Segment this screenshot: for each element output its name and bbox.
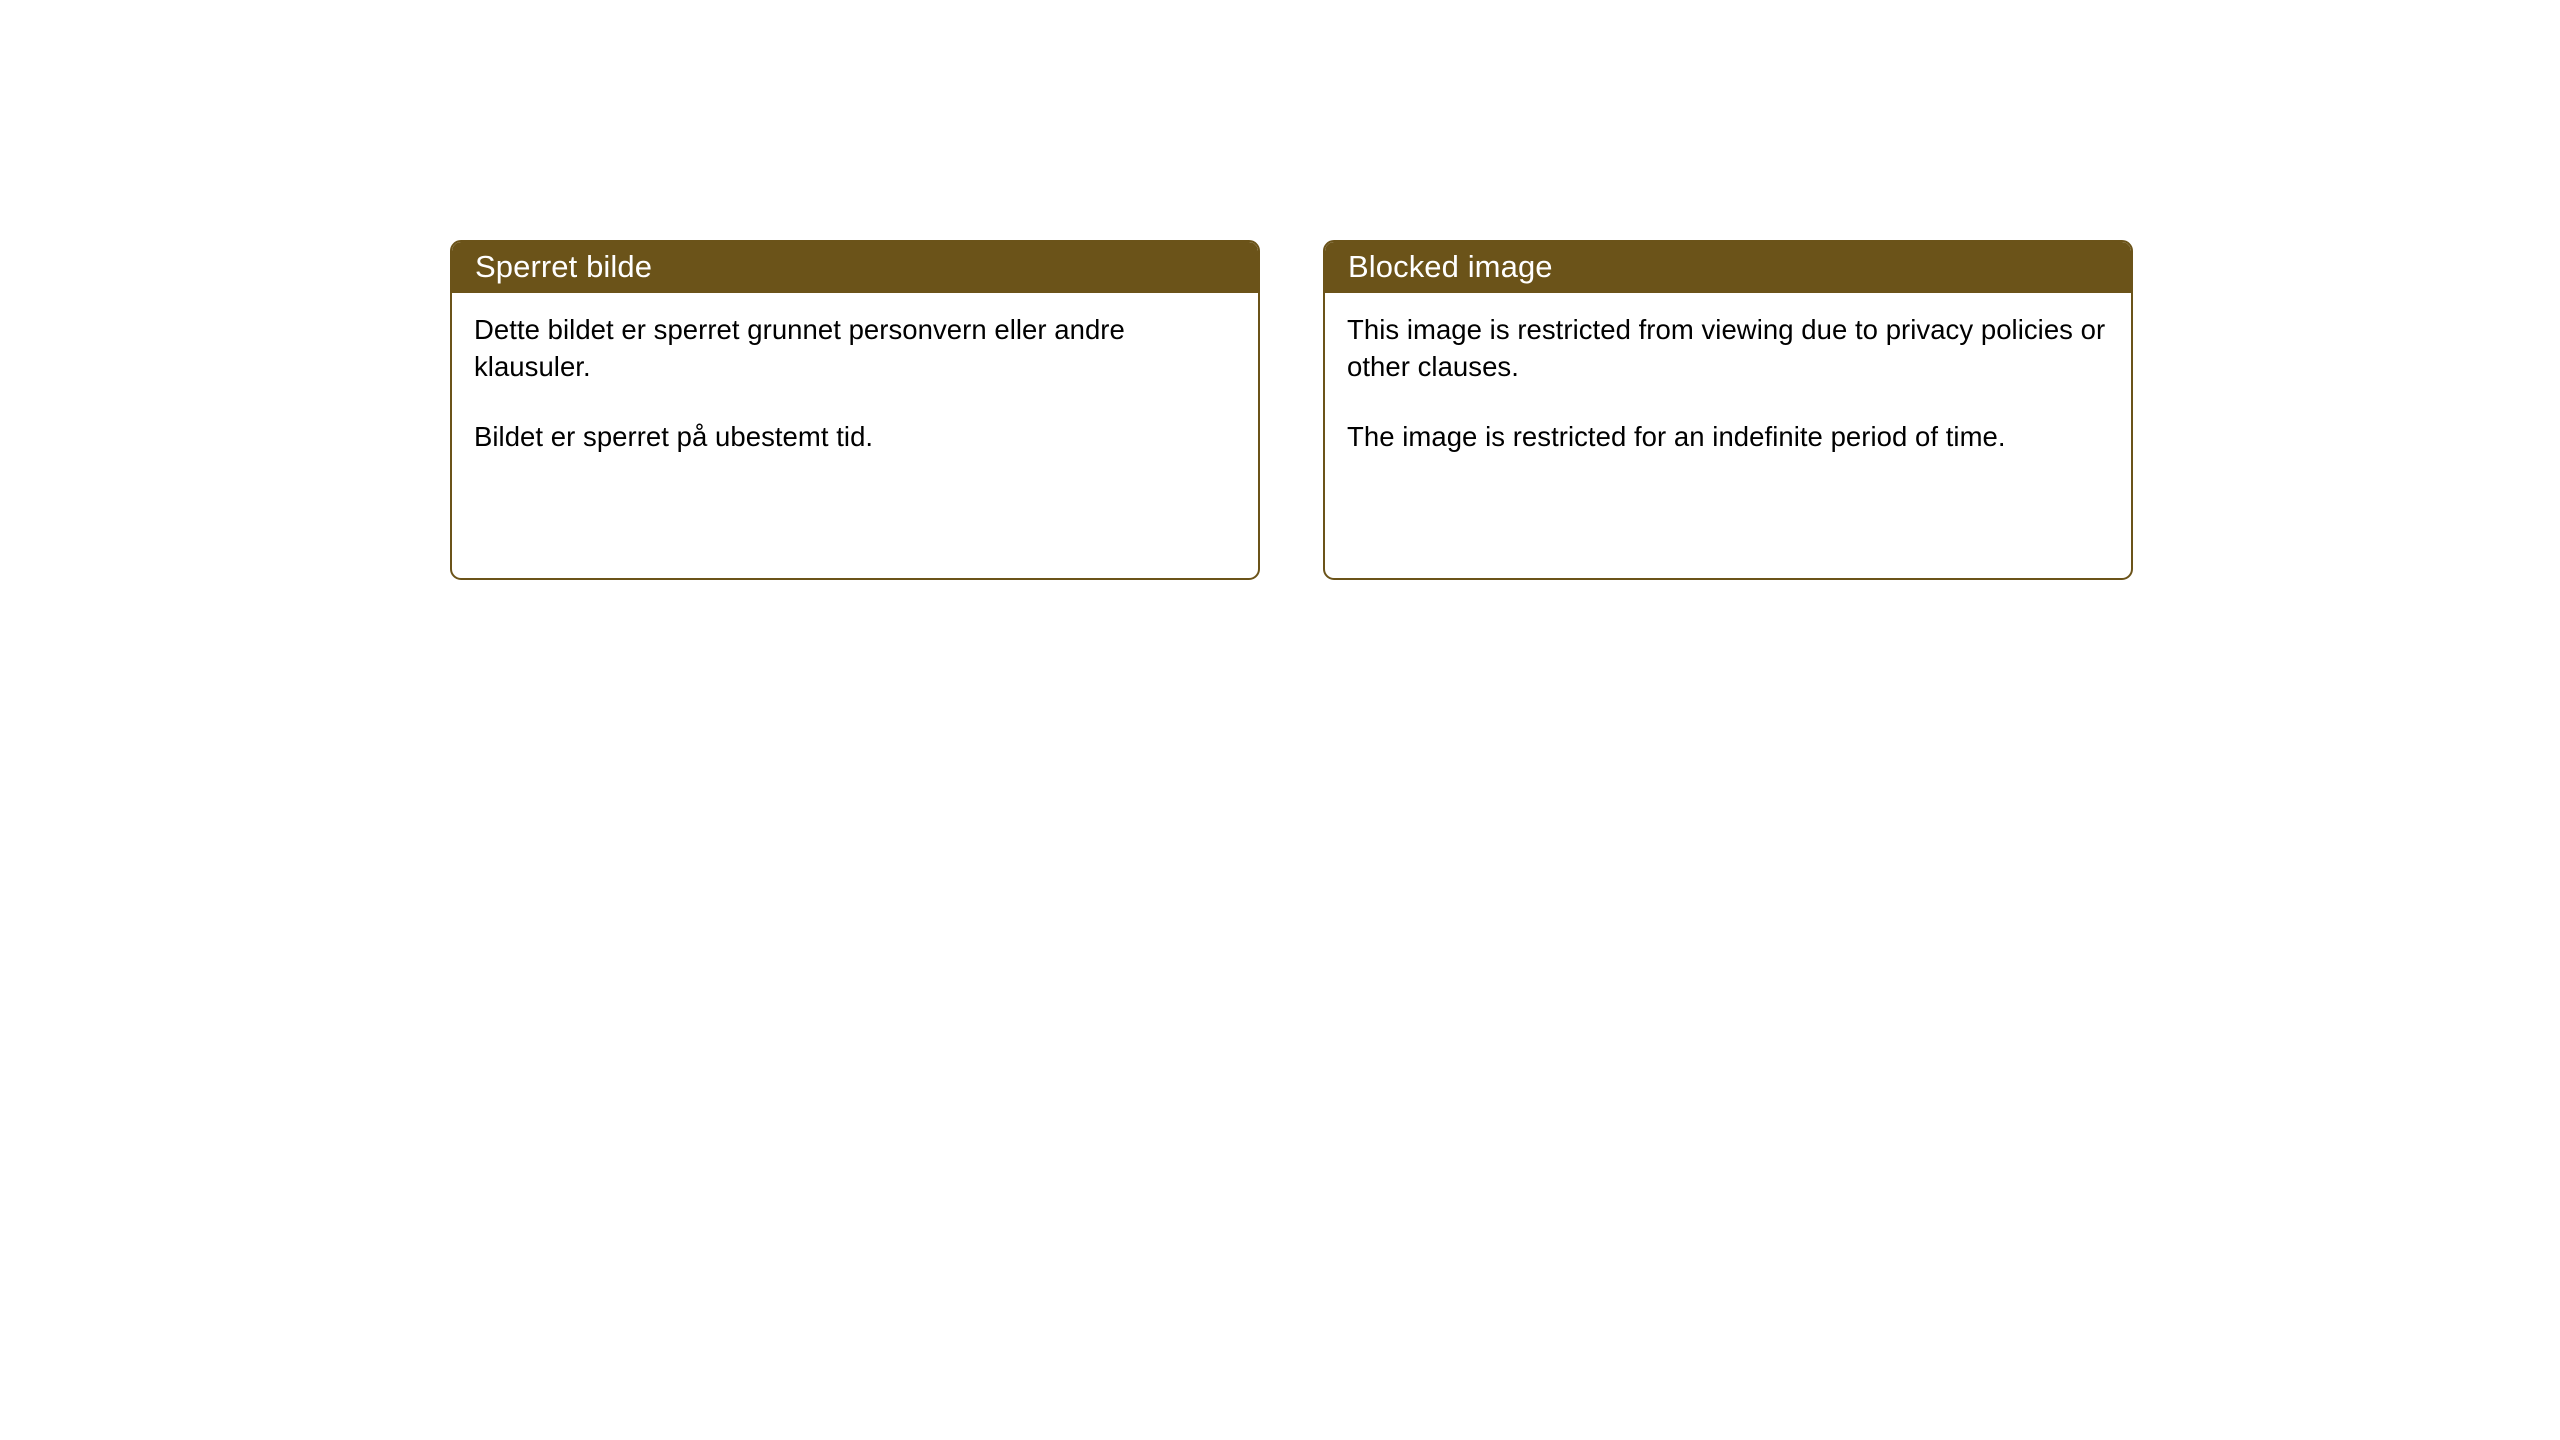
panel-header-english: Blocked image (1325, 242, 2131, 293)
blocked-image-panel-english: Blocked image This image is restricted f… (1323, 240, 2133, 580)
panel-body-english: This image is restricted from viewing du… (1325, 293, 2131, 578)
panel-header-norwegian: Sperret bilde (452, 242, 1258, 293)
panel-paragraph-english-2: The image is restricted for an indefinit… (1347, 419, 2109, 456)
panel-paragraph-norwegian-2: Bildet er sperret på ubestemt tid. (474, 419, 1236, 456)
blocked-image-panel-norwegian: Sperret bilde Dette bildet er sperret gr… (450, 240, 1260, 580)
panel-title-norwegian: Sperret bilde (475, 249, 1258, 285)
panel-paragraph-english-1: This image is restricted from viewing du… (1347, 312, 2109, 385)
panel-title-english: Blocked image (1348, 249, 2131, 285)
panel-body-norwegian: Dette bildet er sperret grunnet personve… (452, 293, 1258, 578)
panel-paragraph-norwegian-1: Dette bildet er sperret grunnet personve… (474, 312, 1236, 385)
blocked-image-notices: Sperret bilde Dette bildet er sperret gr… (450, 240, 2133, 580)
